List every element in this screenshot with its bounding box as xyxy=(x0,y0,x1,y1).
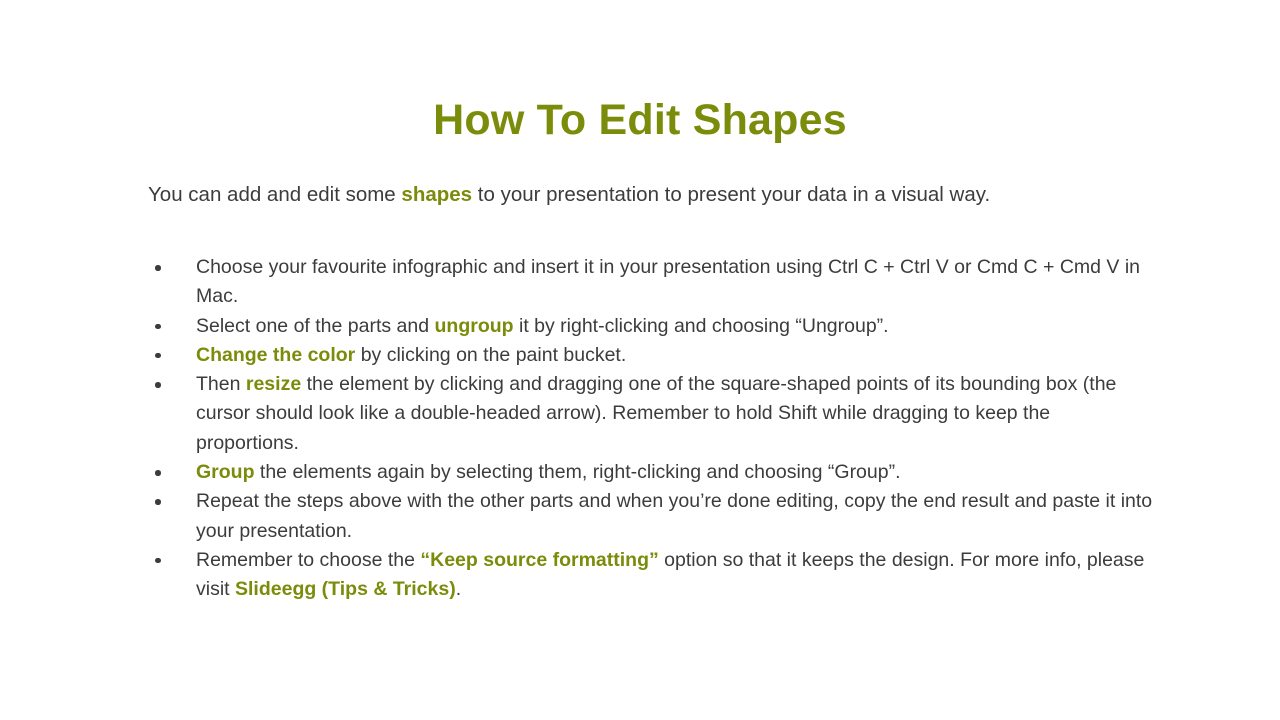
bullet-dot-icon xyxy=(155,499,161,505)
highlighted-term: resize xyxy=(246,373,301,395)
highlighted-term: ungroup xyxy=(435,315,514,337)
intro-paragraph: You can add and edit some shapes to your… xyxy=(148,181,1148,209)
highlighted-term: Slideegg (Tips & Tricks) xyxy=(235,578,456,600)
list-item-text: Choose your favourite infographic and in… xyxy=(196,256,1140,307)
list-item: Repeat the steps above with the other pa… xyxy=(148,487,1158,546)
intro-text-after: to your presentation to present your dat… xyxy=(472,183,990,206)
list-item: Remember to choose the “Keep source form… xyxy=(148,546,1158,605)
bullet-dot-icon xyxy=(155,382,161,388)
highlighted-term: “Keep source formatting” xyxy=(420,549,658,571)
list-item-text: the element by clicking and dragging one… xyxy=(196,373,1116,454)
intro-highlight-shapes: shapes xyxy=(401,183,472,206)
list-item-text: Select one of the parts and xyxy=(196,315,435,337)
bullet-dot-icon xyxy=(155,324,161,330)
highlighted-term: Group xyxy=(196,461,255,483)
bullet-dot-icon xyxy=(155,558,161,564)
list-item: Choose your favourite infographic and in… xyxy=(148,253,1158,312)
list-item-text: Repeat the steps above with the other pa… xyxy=(196,490,1152,541)
list-item-text: Remember to choose the xyxy=(196,549,420,571)
list-item: Group the elements again by selecting th… xyxy=(148,458,1158,487)
intro-text-before: You can add and edit some xyxy=(148,183,401,206)
slide-canvas: How To Edit Shapes You can add and edit … xyxy=(0,0,1280,720)
highlighted-term: Change the color xyxy=(196,344,355,366)
list-item-text: Then xyxy=(196,373,246,395)
list-item: Then resize the element by clicking and … xyxy=(148,370,1158,458)
instruction-list: Choose your favourite infographic and in… xyxy=(148,253,1158,605)
page-title: How To Edit Shapes xyxy=(0,97,1280,144)
list-item-text: it by right-clicking and choosing “Ungro… xyxy=(514,315,889,337)
list-item-text: the elements again by selecting them, ri… xyxy=(255,461,901,483)
bullet-dot-icon xyxy=(155,353,161,359)
list-item-text: by clicking on the paint bucket. xyxy=(355,344,626,366)
list-item: Change the color by clicking on the pain… xyxy=(148,341,1158,370)
bullet-dot-icon xyxy=(155,470,161,476)
list-item: Select one of the parts and ungroup it b… xyxy=(148,312,1158,341)
bullet-dot-icon xyxy=(155,265,161,271)
list-item-text: . xyxy=(456,578,461,600)
